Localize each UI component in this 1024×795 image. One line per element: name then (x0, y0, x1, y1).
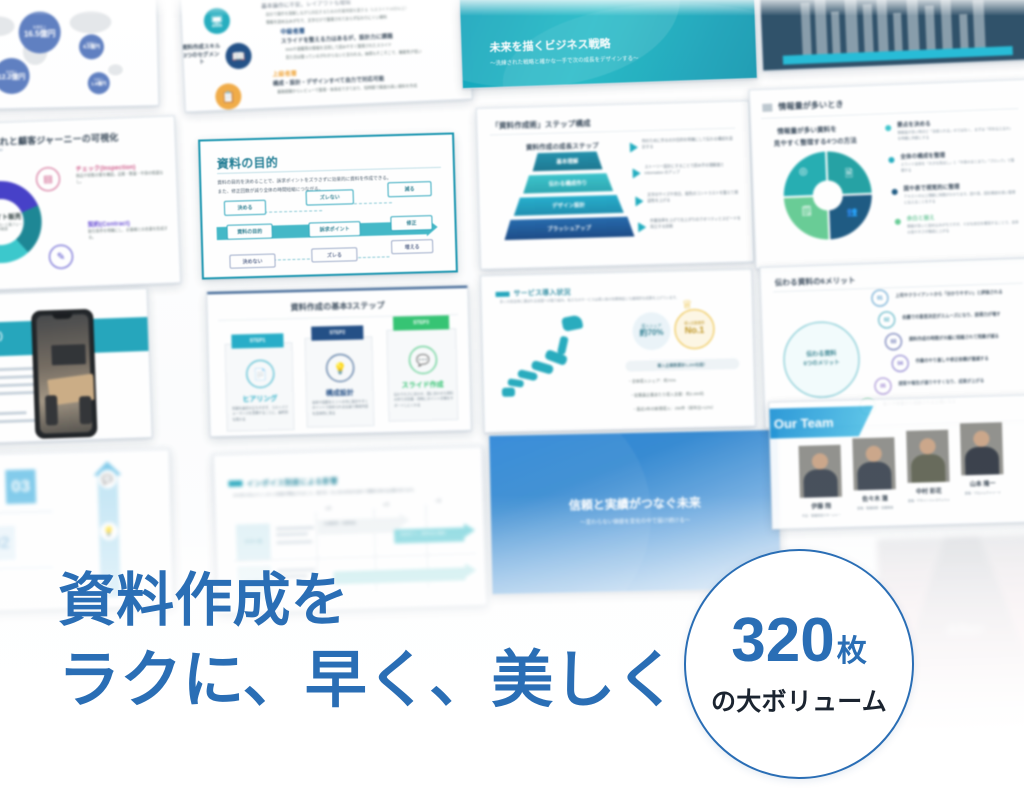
method-body: 情報が多いと詰め込みがちですが、十分な余白を確保することで、全体の見やすさが格段… (907, 220, 1019, 236)
member-name: 山本 隆一 (954, 478, 1012, 489)
member-photo (960, 422, 1003, 475)
badge-count-row: 320 枚 (731, 610, 866, 672)
share-value: 約70% (639, 329, 663, 338)
step-card[interactable]: STEP3 💬 スライド作成 伝わりたさに合わせ、図に合わせた資料の作り方情報・… (386, 328, 458, 422)
step-number: 03 (5, 469, 36, 504)
slide-meeting-room[interactable]: ルーム（会議室） の効果 (0, 288, 153, 446)
slide-title: 資料作成の基本3ステップ (290, 300, 385, 313)
method-body: テキストの以上理解に時間がかかります。図や表、図形構造を使い整理に伝えることをす… (904, 190, 1018, 206)
badge-unit: 枚 (837, 637, 867, 667)
chat-icon: 💬 (409, 346, 438, 375)
flow-node-main: 訴求ポイント (308, 221, 360, 237)
step-name: スライド作成 (388, 379, 456, 391)
after-label: After (946, 621, 984, 640)
step-desc: 伝わりたさに合わせ、図に合わせた資料の作り方情報・同時にポイント次第をサポートし… (394, 391, 454, 408)
merit-number: 04 (891, 355, 909, 373)
gantt-month: 6月 (383, 502, 389, 508)
donut-center-label: ECサイト販売 (0, 210, 23, 222)
flow-node: ズレる (311, 247, 357, 262)
headline-line-1: 資料作成を (58, 566, 678, 637)
center-line-2: 6つのメリット (804, 360, 840, 368)
center-line-1: 伝わる資料 (803, 351, 839, 359)
pyramid-note: 何のために作るのか目的を明確にして伝わる構成を設計する (642, 136, 736, 152)
segment-heading: 上級者層 (272, 68, 297, 78)
note-heading: 契約(Contract) (88, 218, 130, 229)
merit-text: 会議での意思決定がスムーズになり、説得力が増す (902, 311, 1001, 320)
badge-caption: の大ボリューム (711, 682, 887, 718)
flow-node: 増える (391, 239, 433, 254)
slide-our-team[interactable]: Our Team 伊藤 翔 代表／事業統括マネージャー 佐々木 蓮 部長／事業開… (768, 394, 1024, 529)
member-photo (906, 430, 949, 483)
merit-number: 01 (871, 289, 889, 307)
intermediate-icon: 📖 (225, 42, 252, 69)
pyramid-level: 伝わる構成作り (523, 173, 613, 194)
step-name: 構成設計 (307, 387, 373, 399)
rank-value: No.1 (685, 326, 705, 336)
slide-title: 商品提供の流れと顧客ジャーニーの可視化 (0, 130, 119, 150)
bubble-value: 1.8億円 (91, 82, 106, 87)
note-body: 取引条件を明確にし、お客様との合意を形成する。 (88, 226, 174, 241)
methods-subtitle: 情報量が多い資料を (777, 123, 837, 135)
merit-number: 03 (885, 333, 903, 351)
bubble-value: 12.2億円 (0, 74, 26, 82)
gantt-row-label: リリース (236, 524, 271, 561)
member-role: 部長／プロジェクトリード (956, 490, 1010, 496)
pyramid-level: デザイン設計 (513, 195, 623, 216)
bubble-label: 年間売上 (94, 79, 104, 82)
target-icon: ◎ (799, 166, 808, 177)
slide-world-map[interactable]: 年間売上 16.5億円 年間売上 4.5億円 年間売上 12.2億円 年間売上 … (0, 0, 159, 110)
step-number: 02 (0, 526, 16, 561)
merit-text: 上司やクライアントから「分かりやすい」と評価される (895, 289, 1002, 299)
world-map-background (0, 0, 158, 109)
page-headline: 資料作成を ラクに、早く、美しく (58, 566, 678, 718)
slide-title: サービス導入状況 (513, 287, 570, 298)
flow-node: 決める (224, 200, 266, 216)
flow-node-main: 修正 (390, 215, 432, 231)
bubble-label: 年間売上 (6, 71, 18, 74)
slide-four-methods[interactable]: 情報量が多いとき 情報量が多い資料を 見やすく整理する4つの方法 ◎ 🗎 🗒 👥… (749, 79, 1024, 270)
bubble-label: 年間売上 (86, 43, 96, 46)
member-name: 佐々木 蓮 (846, 493, 904, 504)
slide-title: インボイス制度による影響 (246, 475, 338, 489)
bubble-value: 4.5億円 (83, 45, 100, 51)
lightbulb-icon: 💡 (326, 354, 355, 383)
volume-badge: 320 枚 の大ボリューム (684, 549, 914, 779)
method-body: スライド全体を「大きな見出し」と「中身のまとまり」「ブロック」で整理する (901, 158, 1017, 174)
japan-chugoku (507, 378, 524, 387)
flow-node: 決めない (229, 253, 275, 268)
member-name: 伊藤 翔 (792, 500, 850, 511)
member-role: 代表／事業統括マネージャー (794, 513, 848, 519)
kpi-bullet: ・全体導入シェア：約70% (628, 378, 676, 386)
member-photo (799, 445, 842, 498)
headline-line-2: ラクに、早く、美しく (58, 643, 678, 719)
document-icon: 📄 (246, 360, 275, 389)
member-role: 部長／事業開発・営業推進 (848, 505, 902, 511)
member-photo (852, 437, 895, 490)
slide-skill-segments[interactable]: 🖥 📖 📋 資料作成スキル 3つのセグメント 初心者層 基本操作に不安、レイアウ… (179, 0, 473, 112)
kpi-bullet: ・従業員企業あたり導入支援：約2,000社 (630, 391, 704, 399)
pyramid-level: 基本理解 (532, 151, 602, 171)
pyramid-note: 作業効率を上げて仕上がりのクオリティとスピードを両立する技術 (650, 215, 742, 230)
badge-count: 320 (731, 610, 834, 672)
slide-city-photo[interactable] (758, 0, 1024, 72)
flow-node-main: 資料の目的 (226, 224, 272, 240)
merit-text: 提案や報告が通りやすくなり、成果が上がる (898, 378, 984, 387)
step-card[interactable]: STEP2 💡 構成設計 全体や話題をヒントの中に設計やすくポイントで絞められる… (304, 336, 374, 428)
checklist-icon: 🗒 (800, 206, 813, 217)
japan-hokkaido (561, 314, 583, 332)
pyramid-note: ストーリー設計にすることで読み手の理解度と information のアップ (644, 162, 738, 178)
team-banner: Our Team (768, 406, 874, 439)
step-name: ヒアリング (227, 393, 293, 405)
flow-node: ズレない (306, 189, 354, 205)
gantt-month: 7月 (435, 498, 441, 504)
step-tag: STEP2 (311, 325, 363, 340)
step-tag: STEP1 (231, 333, 283, 348)
slide-subtitle: 資料作成の成長ステップ (526, 139, 599, 151)
gantt-bar-label: 仕様整理・効果検証 (324, 521, 356, 527)
method-heading: 要点を決める (897, 119, 931, 128)
four-quadrant-donut (782, 150, 873, 241)
kpi-pill: 導入企業数累計1,200社超！ (625, 358, 739, 372)
contract-icon: ✎ (49, 244, 74, 269)
merits-center: 伝わる資料 6つのメリット (782, 320, 861, 399)
rank-kpi: 導入社数業界 No.1 (674, 309, 715, 350)
method-heading: 図や表で視覚的に整理 (903, 182, 959, 192)
member-role: 部長／デザインストラテジスト (902, 498, 956, 504)
note-body: 商品や状態の質を確認。品質・数量・中身の相違なし。 (76, 171, 170, 186)
pyramid-level: ブラッシュアップ (504, 216, 635, 240)
advanced-icon: 📋 (215, 83, 242, 110)
member-name: 中村 彩花 (900, 485, 958, 496)
step-tag: STEP3 (393, 315, 449, 330)
japan-tohoku (557, 336, 569, 355)
merit-number: 05 (874, 377, 892, 395)
beginner-icon: 🖥 (203, 7, 230, 34)
slide-title: 情報量が多いとき (778, 99, 844, 112)
smartphone-mockup (31, 309, 97, 439)
step-desc: 情報を最初の立ちすぎず、コストパフォーマンスを意識することに、最終的な見わる (232, 405, 290, 422)
step-desc: 全体や話題をヒントの中に設計やすくポイントで絞められる伝達で構成内容を具体的に見… (312, 399, 370, 416)
slide-title: 資料の目的 (217, 153, 279, 172)
method-heading: 全体の構成を整理 (900, 151, 945, 161)
flow-node: 減る (387, 181, 431, 197)
slide-pyramid-steps[interactable]: 「資料作成術」ステップ構成 資料作成の成長ステップ 基本理解 伝わる構成作り デ… (476, 100, 754, 270)
inspection-icon: ▤ (36, 167, 61, 192)
segment-heading: 中級者層 (280, 26, 305, 36)
slide-customer-journey[interactable]: 商品提供の流れと顧客ジャーニーの可視化 ECサイト販売 4つの基本フローと各フェ… (0, 115, 181, 292)
share-kpi: 導入シェア 約70% (632, 312, 671, 351)
japan-kyushu (502, 388, 515, 397)
document-icon: 🗎 (845, 167, 854, 184)
pyramid-note: 文字のサイズや余白、配色のコントラストを整えて視認性を上げる (647, 189, 741, 205)
slide-three-steps[interactable]: 資料作成の基本3ステップ STEP1 📄 ヒアリング 情報を最初の立ちすぎず、コ… (206, 285, 471, 437)
hero-title: 信頼と実績がつなぐ未来 (569, 494, 701, 514)
merit-text: 資料作成の時間が大幅に短縮されて残業が減る (909, 334, 999, 343)
method-heading: 余白と揃え (907, 213, 935, 222)
donut-center-sub: 4つの基本フローと各フェーズの役割 (0, 222, 23, 233)
slide-document-purpose[interactable]: 資料の目的 資料の目的を決めることで、訴求ポイントをズラさずに効果的に資料を作成… (198, 132, 458, 279)
method-body: 情報量が多い時ほど「全部入れる」のではなく、まずは「何を伝えるか」を明確に判断に… (897, 126, 1015, 142)
slide-title: 伝わる資料の6メリット (775, 274, 856, 288)
slide-japan-adoption[interactable]: サービス導入状況 多くの自治体に選ばれる全国への取り組み。私たちのサービスは導入… (480, 269, 756, 434)
segments-title: 資料作成スキル 3つのセグメント (181, 44, 222, 69)
slide-hero-teal[interactable]: 未来を描くビジネス戦略 〜洗練された戦略と確かな一手で次の成長をデザインする〜 (458, 0, 758, 89)
slide-title: 「資料作成術」ステップ構成 (491, 118, 591, 132)
merit-number: 02 (878, 311, 896, 329)
kpi-bullet: ・直近3年の新規導入：250件（前年比+12%） (632, 405, 715, 413)
step-card[interactable]: STEP1 📄 ヒアリング 情報を最初の立ちすぎず、コストパフォーマンスを意識す… (225, 342, 295, 432)
poster-canvas: 年間売上 16.5億円 年間売上 4.5億円 年間売上 12.2億円 年間売上 … (0, 0, 1024, 795)
methods-subtitle: 見やすく整理する4つの方法 (774, 134, 858, 147)
people-icon: 👥 (846, 206, 858, 217)
bubble-label: 年間売上 (33, 26, 47, 30)
gantt-month: 5月 (325, 506, 331, 512)
merit-text: 作業のやり直しや修正依頼が激減する (916, 356, 989, 365)
bubble-value: 16.5億円 (24, 30, 56, 39)
